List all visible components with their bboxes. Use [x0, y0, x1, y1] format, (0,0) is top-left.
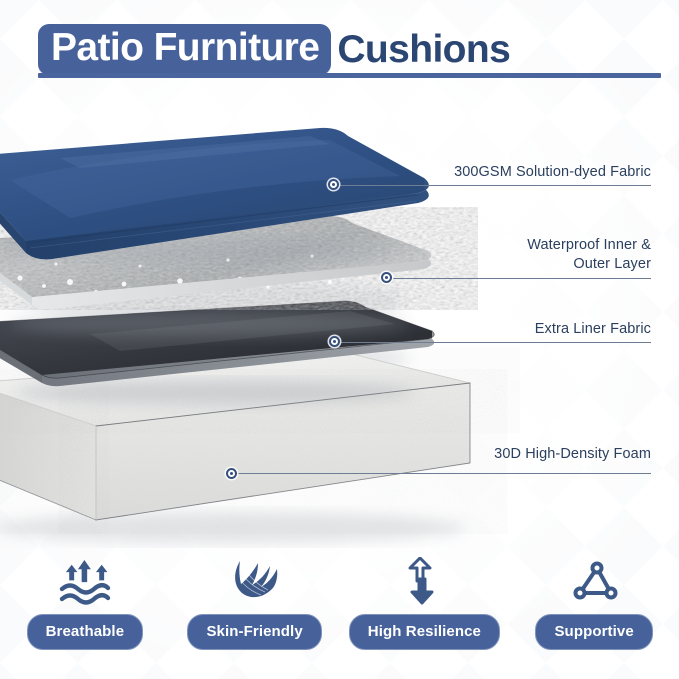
callout-label-liner: Extra Liner Fabric — [535, 320, 651, 339]
callout-label-fabric: 300GSM Solution-dyed Fabric — [454, 163, 651, 182]
feather-icon — [228, 556, 282, 608]
feature-badge-label[interactable]: Breathable — [27, 614, 144, 650]
callout-leader-line — [341, 342, 651, 343]
feature-badge-label[interactable]: Supportive — [535, 614, 652, 650]
callout-leader-line — [393, 278, 651, 279]
callout-leader-line — [232, 473, 651, 474]
feature-badges: Breathable Skin-Friendly — [0, 556, 679, 679]
callout-leader-line — [340, 185, 651, 186]
callout-marker-dot — [381, 272, 392, 283]
feature-badge-label[interactable]: High Resilience — [349, 614, 500, 650]
callout-label-waterproof: Waterproof Inner & Outer Layer — [527, 236, 651, 274]
infographic-page: Patio Furniture Cushions — [0, 0, 679, 679]
feature-breathable: Breathable — [1, 556, 169, 650]
feature-skin-friendly: Skin-Friendly — [171, 556, 339, 650]
title-underline — [38, 73, 661, 78]
page-title: Patio Furniture Cushions — [38, 24, 510, 75]
up-down-arrows-icon — [401, 556, 447, 608]
arrows-over-waves-icon — [56, 556, 114, 608]
header: Patio Furniture Cushions — [0, 0, 679, 92]
callout-marker-dot — [329, 336, 340, 347]
triangle-nodes-icon — [567, 556, 621, 608]
feature-high-resilience: High Resilience — [340, 556, 508, 650]
title-highlight: Patio Furniture — [38, 24, 331, 75]
callout-marker-dot — [328, 179, 339, 190]
feature-supportive: Supportive — [510, 556, 678, 650]
title-plain: Cushions — [331, 28, 510, 72]
callout-marker-dot — [226, 468, 237, 479]
callout-label-foam: 30D High-Density Foam — [494, 445, 651, 464]
feature-badge-label[interactable]: Skin-Friendly — [187, 614, 321, 650]
